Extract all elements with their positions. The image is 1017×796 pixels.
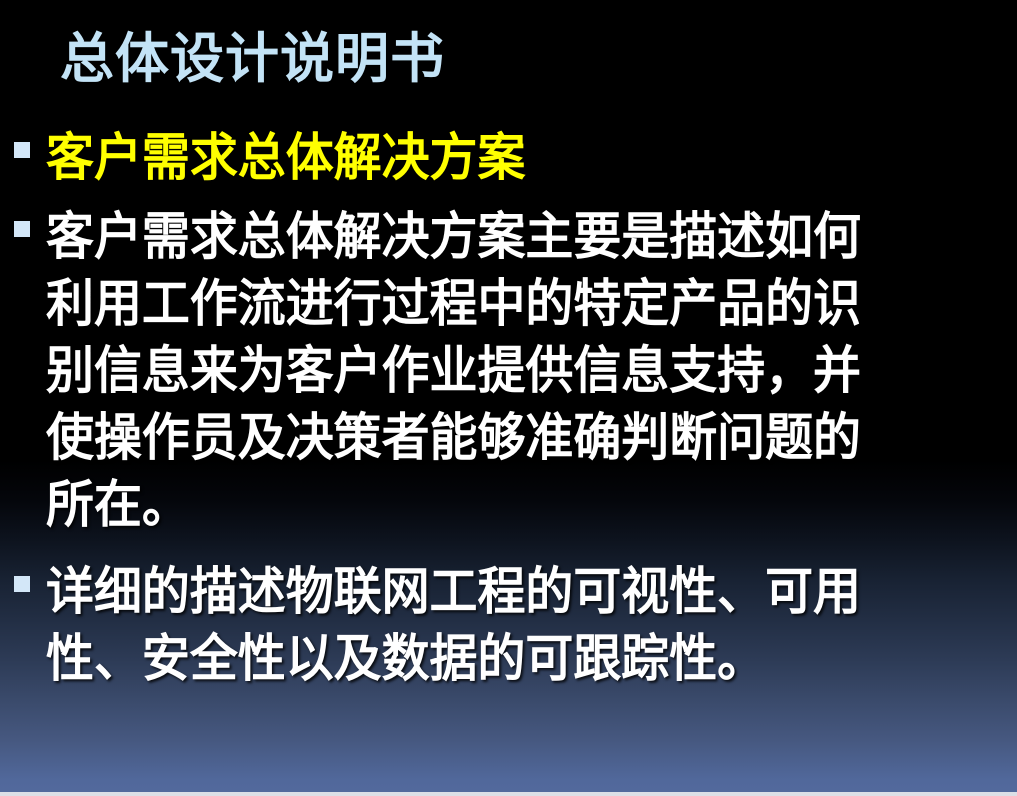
list-item: 客户需求总体解决方案主要是描述如何利用工作流进行过程中的特定产品的识别信息来为客… (0, 203, 1017, 538)
list-item: 详细的描述物联网工程的可视性、可用性、安全性以及数据的可跟踪性。 (0, 558, 1017, 692)
slide-body-bullet-list: 客户需求总体解决方案 客户需求总体解决方案主要是描述如何利用工作流进行过程中的特… (0, 124, 1017, 692)
list-item: 客户需求总体解决方案 (0, 124, 1017, 191)
bullet-text-3: 详细的描述物联网工程的可视性、可用性、安全性以及数据的可跟踪性。 (46, 558, 959, 692)
square-bullet-icon (14, 142, 30, 158)
page-title: 总体设计说明书 (60, 28, 445, 90)
bullet-text-2: 客户需求总体解决方案主要是描述如何利用工作流进行过程中的特定产品的识别信息来为客… (46, 203, 959, 538)
slide-bottom-edge (0, 792, 1017, 796)
slide-content: 总体设计说明书 客户需求总体解决方案 客户需求总体解决方案主要是描述如何利用工作… (0, 0, 1017, 796)
bullet-text-1: 客户需求总体解决方案 (46, 124, 959, 191)
square-bullet-icon (14, 221, 30, 237)
presentation-slide: 总体设计说明书 客户需求总体解决方案 客户需求总体解决方案主要是描述如何利用工作… (0, 0, 1017, 796)
square-bullet-icon (14, 576, 30, 592)
